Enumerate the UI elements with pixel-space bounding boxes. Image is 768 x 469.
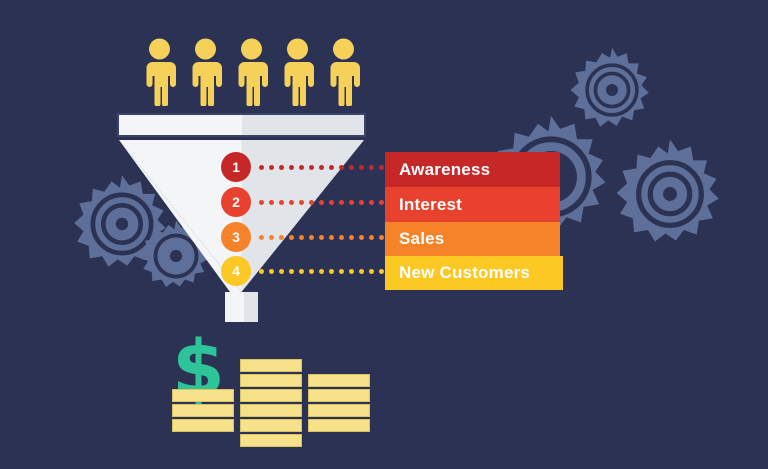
gear-icon <box>566 44 658 136</box>
coin-stack <box>172 387 234 432</box>
person-icon <box>281 38 314 106</box>
funnel-stage-row[interactable]: 1 <box>221 152 409 182</box>
funnel-stage-bar-interest[interactable]: Interest <box>385 187 560 222</box>
funnel-stage-bar-awareness[interactable]: Awareness <box>385 152 560 187</box>
stage-number-badge: 3 <box>221 222 251 252</box>
funnel-stage-label: Interest <box>399 195 462 215</box>
funnel-stage-bar-sales[interactable]: Sales <box>385 222 560 256</box>
stage-number-badge: 1 <box>221 152 251 182</box>
coin <box>308 389 370 402</box>
coin <box>240 404 302 417</box>
coin <box>240 389 302 402</box>
person-icon <box>235 38 268 106</box>
funnel-stage-row[interactable]: 4 <box>221 256 409 286</box>
funnel-rim-shade <box>242 115 365 135</box>
person-icon <box>189 38 222 106</box>
person-icon <box>143 38 176 106</box>
funnel-stage-row[interactable]: 2 <box>221 187 409 217</box>
infographic-canvas: 1 2 3 <box>0 0 768 469</box>
coin <box>172 419 234 432</box>
funnel-spout <box>225 292 258 322</box>
funnel-stage-bar-new-customers[interactable]: New Customers <box>385 256 563 290</box>
coin <box>240 434 302 447</box>
funnel-stage-label: New Customers <box>399 263 530 283</box>
funnel-rim <box>117 113 366 137</box>
stage-number-badge: 4 <box>221 256 251 286</box>
coin-stack <box>308 372 370 432</box>
coin <box>308 404 370 417</box>
funnel-spout-shade <box>244 292 258 322</box>
stage-number-badge: 2 <box>221 187 251 217</box>
coin <box>172 404 234 417</box>
funnel-stage-row[interactable]: 3 <box>221 222 409 252</box>
coin <box>240 359 302 372</box>
coin <box>240 419 302 432</box>
coin <box>308 419 370 432</box>
gear-icon <box>612 136 728 252</box>
coin <box>308 374 370 387</box>
funnel-stage-label: Sales <box>399 229 444 249</box>
coin <box>172 389 234 402</box>
coin <box>240 374 302 387</box>
people-row <box>143 38 360 106</box>
coin-stack <box>240 357 302 447</box>
person-icon <box>327 38 360 106</box>
funnel-stage-label: Awareness <box>399 160 490 180</box>
